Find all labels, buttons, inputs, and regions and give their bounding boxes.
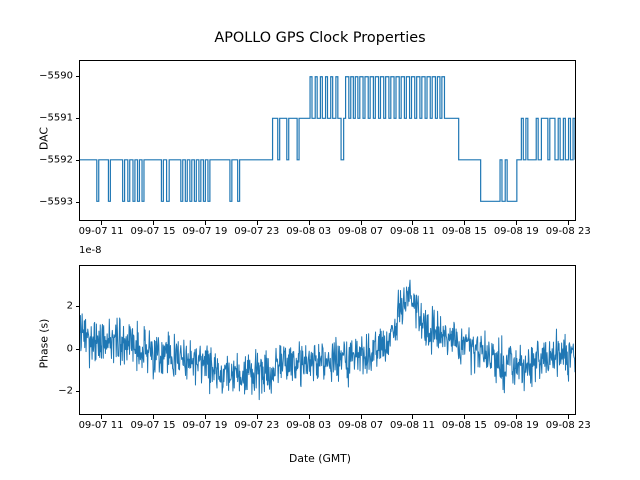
x-tick-mark xyxy=(361,221,362,225)
page-title: APOLLO GPS Clock Properties xyxy=(0,30,640,46)
x-axis-label: Date (GMT) xyxy=(0,452,640,465)
x-tick-label: 09-07 23 xyxy=(234,420,279,431)
x-tick-mark xyxy=(257,415,258,419)
phase-series-svg xyxy=(80,266,575,414)
phase-plot-area xyxy=(80,266,575,414)
x-tick-label: 09-08 23 xyxy=(546,226,591,237)
x-tick-mark xyxy=(153,415,154,419)
phase-axes xyxy=(79,265,576,415)
x-tick-mark xyxy=(568,415,569,419)
x-tick-label: 09-08 19 xyxy=(494,420,539,431)
x-tick-mark xyxy=(516,221,517,225)
x-tick-mark xyxy=(464,415,465,419)
y-tick-mark xyxy=(76,391,80,392)
x-tick-mark xyxy=(412,221,413,225)
x-tick-label: 09-07 11 xyxy=(79,420,124,431)
x-tick-mark xyxy=(153,221,154,225)
y-tick-mark xyxy=(76,118,80,119)
y-tick-label: 2 xyxy=(13,300,73,311)
y-tick-label: −2 xyxy=(13,386,73,397)
x-tick-label: 09-07 11 xyxy=(79,226,124,237)
x-tick-label: 09-07 19 xyxy=(182,420,227,431)
phase-y-offset-text: 1e-8 xyxy=(79,245,102,256)
x-tick-mark xyxy=(464,221,465,225)
x-tick-label: 09-07 15 xyxy=(130,226,175,237)
x-tick-label: 09-08 19 xyxy=(494,226,539,237)
y-tick-mark xyxy=(76,160,80,161)
x-tick-mark xyxy=(568,221,569,225)
y-tick-label: −5591 xyxy=(13,113,73,124)
x-tick-mark xyxy=(205,415,206,419)
x-tick-label: 09-08 11 xyxy=(390,420,435,431)
x-tick-mark xyxy=(516,415,517,419)
x-tick-mark xyxy=(101,415,102,419)
y-tick-mark xyxy=(76,306,80,307)
x-tick-label: 09-08 23 xyxy=(546,420,591,431)
x-tick-mark xyxy=(309,221,310,225)
y-tick-label: −5592 xyxy=(13,155,73,166)
x-tick-mark xyxy=(257,221,258,225)
x-tick-mark xyxy=(361,415,362,419)
x-tick-label: 09-07 19 xyxy=(182,226,227,237)
y-tick-mark xyxy=(76,76,80,77)
dac-y-axis-label: DAC xyxy=(38,89,51,189)
matplotlib-figure: APOLLO GPS Clock Properties DAC −5590−55… xyxy=(0,0,640,480)
x-tick-label: 09-07 15 xyxy=(130,420,175,431)
y-tick-mark xyxy=(76,349,80,350)
y-tick-label: −5590 xyxy=(13,70,73,81)
dac-series-svg xyxy=(80,61,575,220)
x-tick-label: 09-08 07 xyxy=(338,226,383,237)
y-tick-mark xyxy=(76,202,80,203)
x-tick-label: 09-08 15 xyxy=(442,226,487,237)
x-tick-label: 09-08 07 xyxy=(338,420,383,431)
dac-axes xyxy=(79,60,576,221)
y-tick-label: −5593 xyxy=(13,197,73,208)
x-tick-label: 09-08 11 xyxy=(390,226,435,237)
x-tick-label: 09-08 03 xyxy=(286,226,331,237)
x-tick-mark xyxy=(101,221,102,225)
y-tick-label: 0 xyxy=(13,343,73,354)
x-tick-mark xyxy=(205,221,206,225)
x-tick-label: 09-08 03 xyxy=(286,420,331,431)
dac-plot-area xyxy=(80,61,575,220)
x-tick-label: 09-08 15 xyxy=(442,420,487,431)
x-tick-mark xyxy=(309,415,310,419)
x-tick-label: 09-07 23 xyxy=(234,226,279,237)
x-tick-mark xyxy=(412,415,413,419)
